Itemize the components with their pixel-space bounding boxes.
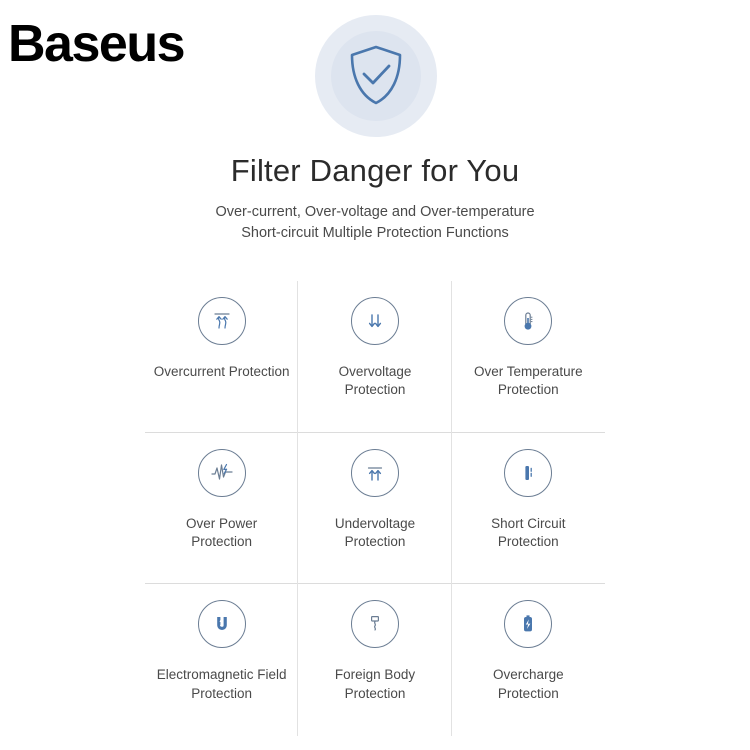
feature-label: Overcurrent Protection	[154, 363, 290, 381]
feature-cell-short-circuit: Short Circuit Protection	[452, 433, 605, 585]
shield-check-badge	[315, 15, 437, 137]
battery-bolt-icon	[504, 600, 552, 648]
feature-label: Over Temperature Protection	[474, 363, 583, 399]
feature-cell-over-power: Over Power Protection	[145, 433, 298, 585]
subtitle-line-2: Short-circuit Multiple Protection Functi…	[0, 223, 750, 244]
feature-label: Overcharge Protection	[493, 666, 564, 702]
current-up-arrows-icon	[198, 297, 246, 345]
magnet-bolt-icon	[198, 600, 246, 648]
feature-cell-overcurrent: Overcurrent Protection	[145, 281, 298, 433]
feature-cell-overcharge: Overcharge Protection	[452, 584, 605, 736]
subtitle-line-1: Over-current, Over-voltage and Over-temp…	[0, 202, 750, 223]
feature-cell-undervoltage: Undervoltage Protection	[298, 433, 451, 585]
circuit-break-bar-icon	[504, 449, 552, 497]
feature-label: Overvoltage Protection	[339, 363, 412, 399]
page-subtitle: Over-current, Over-voltage and Over-temp…	[0, 202, 750, 244]
down-arrows-icon	[351, 297, 399, 345]
foreign-object-icon	[351, 600, 399, 648]
feature-label: Undervoltage Protection	[335, 515, 415, 551]
page-title: Filter Danger for You	[0, 152, 750, 189]
page-header: Baseus	[0, 0, 750, 140]
feature-cell-overvoltage: Overvoltage Protection	[298, 281, 451, 433]
shield-check-icon	[347, 44, 405, 106]
feature-label: Short Circuit Protection	[491, 515, 565, 551]
brand-logo: Baseus	[8, 18, 184, 70]
feature-cell-electromagnetic-field: Electromagnetic Field Protection	[145, 584, 298, 736]
feature-cell-foreign-body: Foreign Body Protection	[298, 584, 451, 736]
pulse-waveform-icon	[198, 449, 246, 497]
thermometer-icon	[504, 297, 552, 345]
protection-feature-grid: Overcurrent Protection Overvoltage Prote…	[145, 281, 605, 736]
feature-cell-over-temperature: Over Temperature Protection	[452, 281, 605, 433]
feature-label: Foreign Body Protection	[335, 666, 415, 702]
up-arrows-bar-icon	[351, 449, 399, 497]
feature-label: Over Power Protection	[186, 515, 257, 551]
title-block: Filter Danger for You Over-current, Over…	[0, 152, 750, 244]
feature-label: Electromagnetic Field Protection	[157, 666, 287, 702]
